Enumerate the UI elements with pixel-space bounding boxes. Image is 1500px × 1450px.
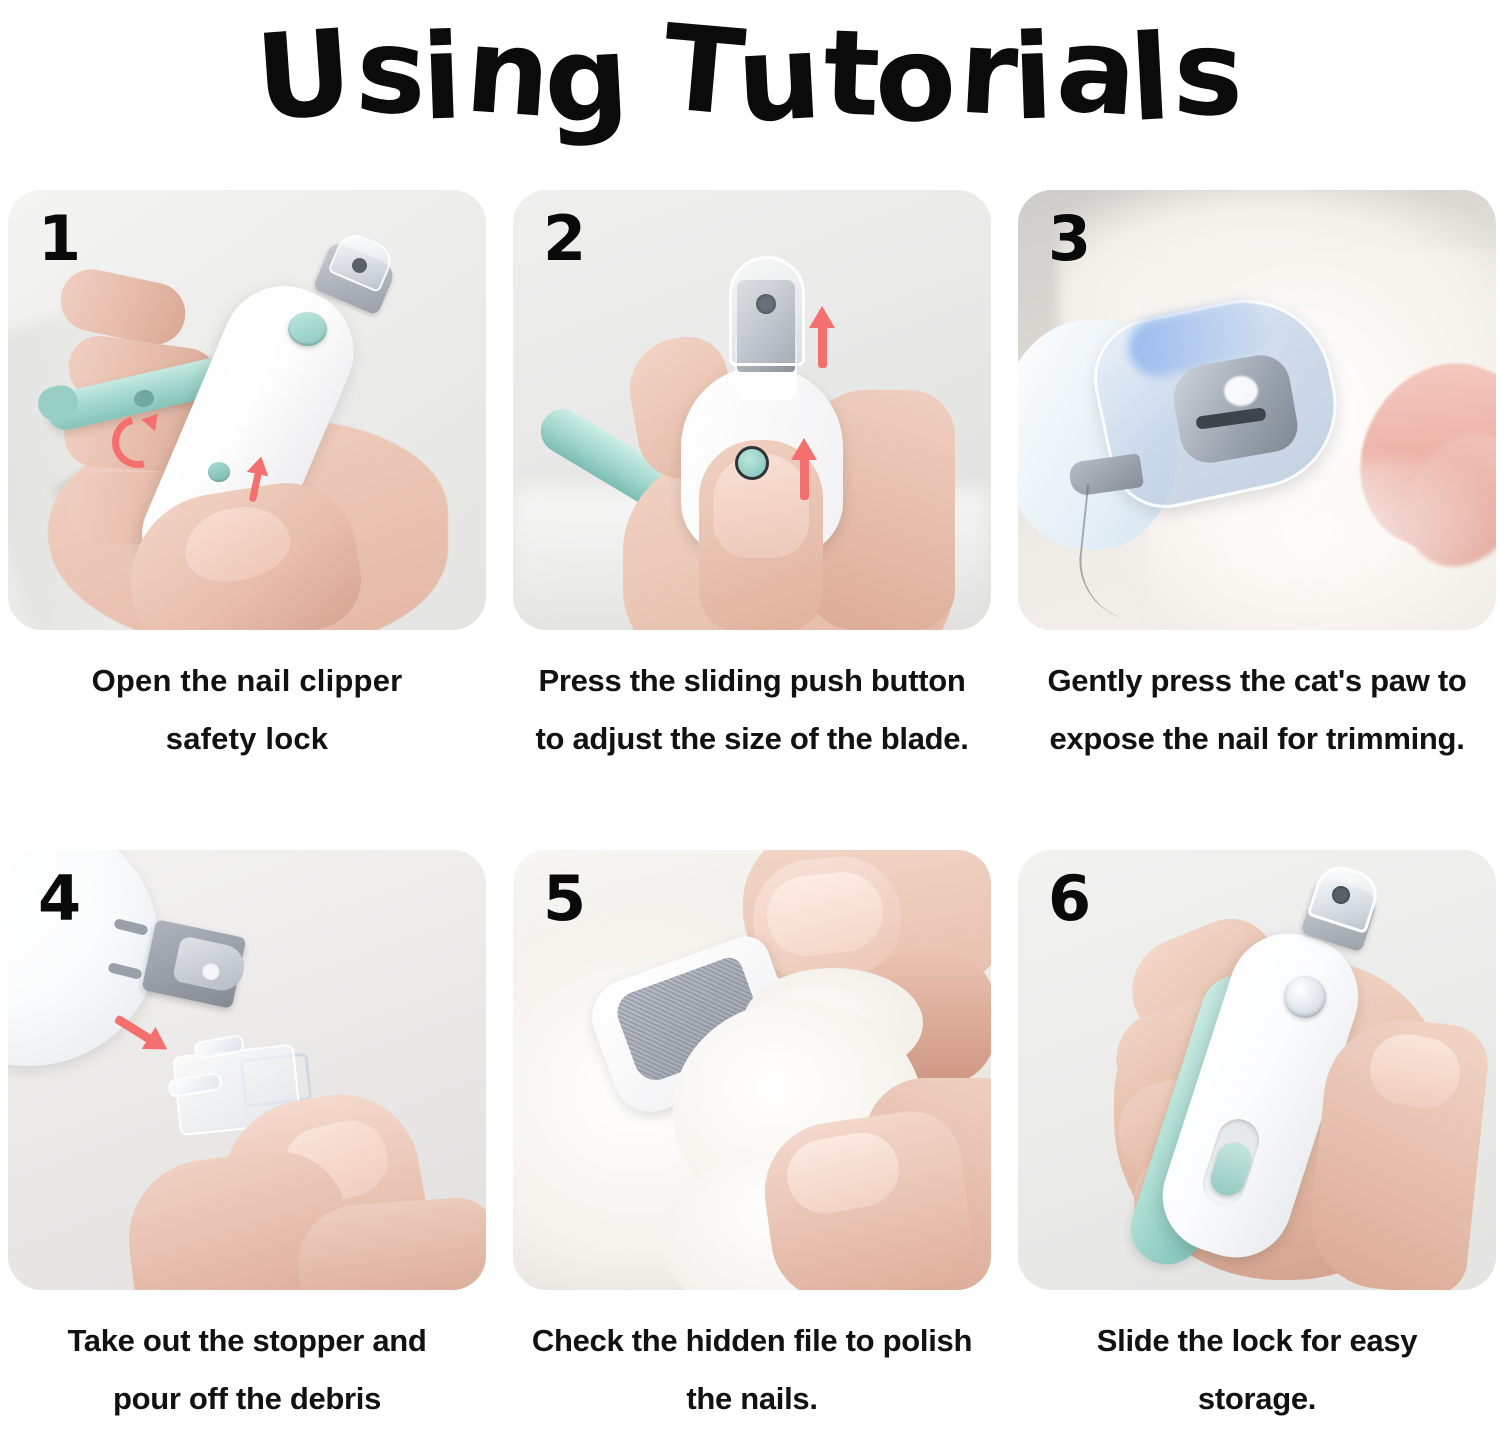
- steps-row-bottom: 4 Take out the stopper and pour off the …: [0, 850, 1500, 1450]
- step-card-3: 3 Gently press the cat's paw to expose t…: [1018, 190, 1498, 790]
- step-caption-5: Check the hidden file to polish the nail…: [513, 1312, 991, 1428]
- caption-line: safety lock: [8, 710, 486, 768]
- page-title: UsingTutorials: [259, 6, 1241, 144]
- step-photo-1: 1: [8, 190, 486, 630]
- caption-line: Check the hidden file to polish: [513, 1312, 991, 1370]
- step-number-1: 1: [38, 208, 81, 270]
- page-header: UsingTutorials: [0, 0, 1500, 150]
- step-photo-2: 2: [513, 190, 991, 630]
- clipper-top-button: [288, 312, 327, 346]
- tutorial-steps-grid: 1 Open the nail clipper safety lock: [0, 150, 1500, 1421]
- caption-line: to adjust the size of the blade.: [513, 710, 991, 768]
- step-number-4: 4: [38, 868, 81, 930]
- title-letter: o: [870, 7, 960, 150]
- caption-line: Take out the stopper and: [8, 1312, 486, 1370]
- caption-line: storage.: [1018, 1370, 1496, 1428]
- step-number-3: 3: [1048, 208, 1091, 270]
- caption-line: the nails.: [513, 1370, 991, 1428]
- title-letter: U: [251, 3, 355, 147]
- step-card-6: 6 Slide the lock for easy storage.: [1018, 850, 1498, 1450]
- step-caption-4: Take out the stopper and pour off the de…: [8, 1312, 486, 1428]
- title-letter: g: [540, 8, 631, 150]
- step-card-1: 1 Open the nail clipper safety lock: [8, 190, 488, 790]
- step-photo-4: 4: [8, 850, 486, 1290]
- step-number-6: 6: [1048, 868, 1091, 930]
- caption-line: Gently press the cat's paw to: [1018, 652, 1496, 710]
- caption-line: pour off the debris: [8, 1370, 486, 1428]
- up-arrow-icon: [809, 310, 835, 368]
- clipper-blade-screw: [756, 294, 776, 314]
- caption-line: Open the nail clipper: [8, 652, 486, 710]
- step-card-5: 5 Check the hidden file to polish the na…: [513, 850, 993, 1450]
- clipper-lock-button: [208, 462, 230, 482]
- caption-line: expose the nail for trimming.: [1018, 710, 1496, 768]
- step-caption-2: Press the sliding push button to adjust …: [513, 652, 991, 768]
- step-caption-6: Slide the lock for easy storage.: [1018, 1312, 1496, 1428]
- title-letter: l: [1127, 8, 1174, 148]
- step-photo-5: 5: [513, 850, 991, 1290]
- step-number-2: 2: [543, 208, 586, 270]
- sliding-push-button: [735, 446, 769, 480]
- step-card-2: 2 Press the sliding push button to adjus…: [513, 190, 993, 790]
- step-caption-3: Gently press the cat's paw to expose the…: [1018, 652, 1496, 768]
- step-caption-1: Open the nail clipper safety lock: [8, 652, 486, 768]
- title-letter: i: [1010, 7, 1054, 146]
- blade-highlight: [1224, 376, 1258, 406]
- title-letter: n: [461, 0, 553, 143]
- step-number-5: 5: [543, 868, 586, 930]
- caption-line: Slide the lock for easy: [1018, 1312, 1496, 1370]
- caption-line: Press the sliding push button: [513, 652, 991, 710]
- title-letter: u: [733, 7, 823, 149]
- steps-row-top: 1 Open the nail clipper safety lock: [0, 190, 1500, 790]
- title-letter: i: [419, 7, 463, 146]
- title-letter: s: [353, 0, 429, 141]
- title-letter: s: [1171, 3, 1245, 143]
- step-card-4: 4 Take out the stopper and pour off the …: [8, 850, 488, 1450]
- clipper-top-button: [1284, 976, 1326, 1018]
- up-arrow-icon: [791, 442, 817, 500]
- step-photo-3: 3: [1018, 190, 1496, 630]
- step-photo-6: 6: [1018, 850, 1496, 1290]
